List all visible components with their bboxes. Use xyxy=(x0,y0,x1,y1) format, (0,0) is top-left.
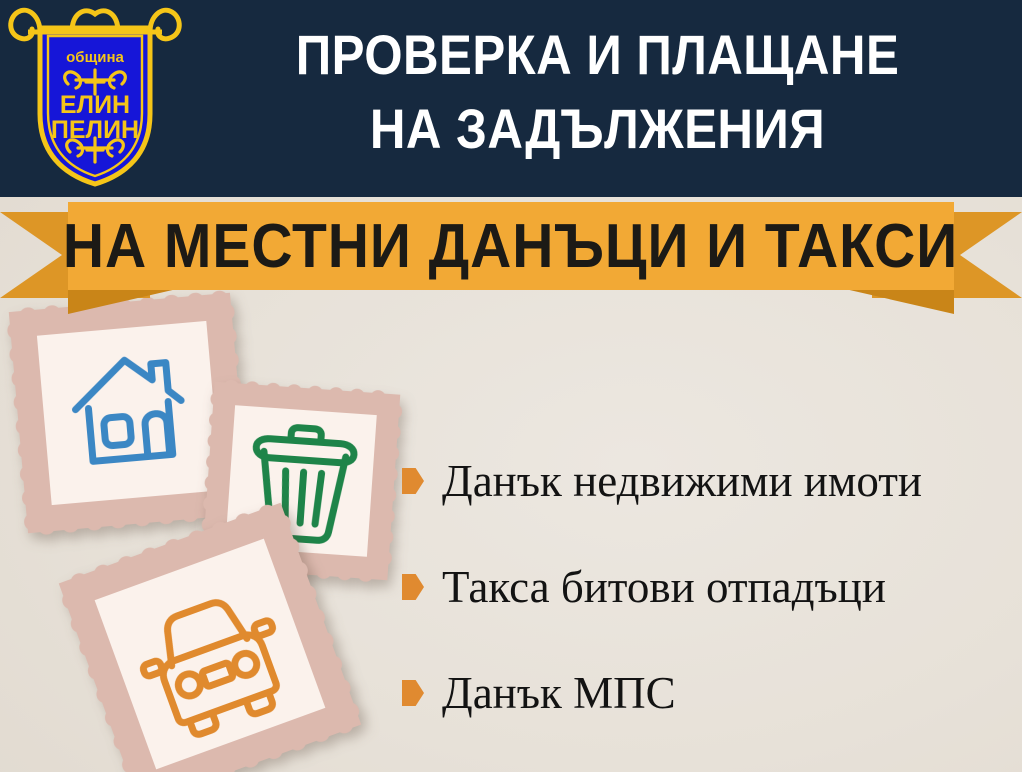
bullet-arrow-icon xyxy=(402,468,424,494)
list-item[interactable]: Данък МПС xyxy=(402,640,1012,746)
ribbon-subtitle: НА МЕСТНИ ДАНЪЦИ И ТАКСИ xyxy=(63,211,958,282)
crest-label-line-2: ПЕЛИН xyxy=(51,116,139,144)
crest-label-line-1: ЕЛИН xyxy=(60,91,130,119)
crest-label-small: община xyxy=(66,49,124,66)
list-item[interactable]: Такса битови отпадъци xyxy=(402,534,1012,640)
ribbon-fold-left xyxy=(68,286,190,314)
municipality-crest-logo: община ЕЛИН ПЕЛИН xyxy=(6,2,184,192)
bullet-arrow-icon xyxy=(402,574,424,600)
page-title-line-1: ПРОВЕРКА И ПЛАЩАНЕ xyxy=(239,18,956,92)
list-item[interactable]: Данък недвижими имоти xyxy=(402,428,1012,534)
ribbon-main-panel: НА МЕСТНИ ДАНЪЦИ И ТАКСИ xyxy=(68,202,954,290)
poster-canvas: ПРОВЕРКА И ПЛАЩАНЕ НА ЗАДЪЛЖЕНИЯ xyxy=(0,0,1022,772)
service-label: Такса битови отпадъци xyxy=(442,565,886,610)
bullet-arrow-icon xyxy=(402,680,424,706)
service-label: Данък МПС xyxy=(442,671,676,716)
page-title: ПРОВЕРКА И ПЛАЩАНЕ НА ЗАДЪЛЖЕНИЯ xyxy=(239,18,956,167)
service-label: Данък недвижими имоти xyxy=(442,459,922,504)
service-list: Данък недвижими имоти Такса битови отпад… xyxy=(402,428,1012,746)
ribbon-fold-right xyxy=(832,286,954,314)
ribbon-banner: НА МЕСТНИ ДАНЪЦИ И ТАКСИ xyxy=(0,196,1022,314)
page-title-line-2: НА ЗАДЪЛЖЕНИЯ xyxy=(239,92,956,166)
